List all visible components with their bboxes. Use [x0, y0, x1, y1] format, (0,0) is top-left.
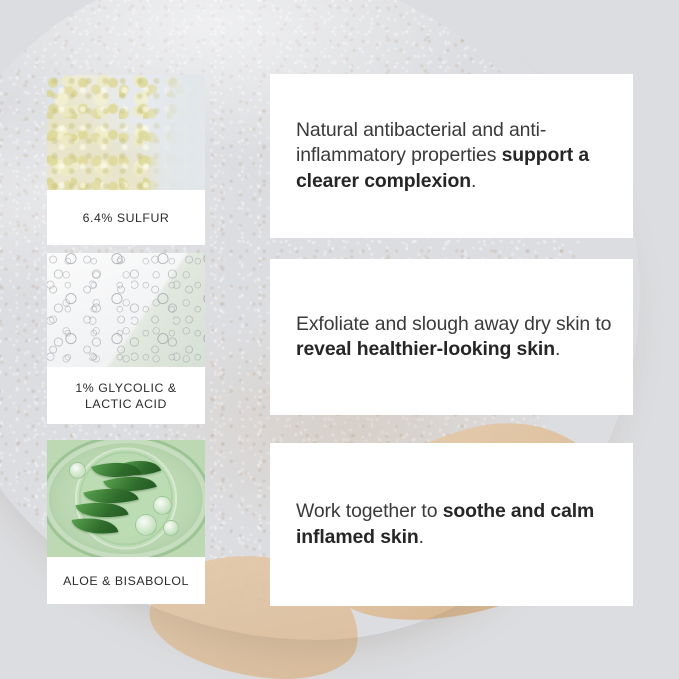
benefit-text-2: Exfoliate and slough away dry skin to re…	[270, 312, 622, 363]
benefit-plain-3: Work together to	[296, 500, 443, 522]
ingredient-label-sulfur: 6.4% SULFUR	[47, 190, 205, 245]
aloe-slice-icon	[163, 520, 179, 536]
benefit-text-1: Natural antibacterial and anti-inflammat…	[270, 118, 622, 195]
benefit-plain-2: Exfoliate and slough away dry skin to	[296, 313, 611, 335]
benefit-bold-2: reveal healthier-looking skin	[296, 338, 555, 360]
powder-backdrop-fade	[151, 75, 205, 190]
benefit-panel-1: Natural antibacterial and anti-inflammat…	[270, 74, 633, 238]
petri-dish	[47, 440, 205, 557]
benefit-panel-2: Exfoliate and slough away dry skin to re…	[270, 259, 633, 415]
gel-droplets-photo	[47, 253, 205, 367]
aloe-slice-icon	[153, 496, 172, 515]
ingredient-label-text: 6.4% SULFUR	[83, 210, 170, 226]
gel-bubbles-texture	[47, 253, 205, 367]
ingredient-label-line-1: 1% GLYCOLIC &	[75, 380, 176, 396]
benefit-text-3: Work together to soothe and calm inflame…	[270, 499, 622, 550]
benefit-plain-3b: .	[419, 526, 424, 548]
ingredient-label-line-2: LACTIC ACID	[85, 396, 167, 412]
ingredient-label-glycolic-lactic-acid: 1% GLYCOLIC & LACTIC ACID	[47, 367, 205, 424]
benefit-plain-1b: .	[471, 170, 476, 192]
ingredient-card-glycolic-lactic-acid[interactable]: 1% GLYCOLIC & LACTIC ACID	[47, 253, 205, 424]
ingredient-card-sulfur[interactable]: 6.4% SULFUR	[47, 75, 205, 245]
aloe-slice-icon	[135, 514, 157, 536]
product-ingredient-infographic: 6.4% SULFUR 1% GLYCOLIC & LACTIC ACID	[0, 0, 679, 679]
benefit-panel-3: Work together to soothe and calm inflame…	[270, 443, 633, 606]
sulfur-powder-photo	[47, 75, 205, 190]
ingredient-card-aloe-bisabolol[interactable]: ALOE & BISABOLOL	[47, 440, 205, 604]
aloe-petri-dish-photo	[47, 440, 205, 557]
benefit-plain-2b: .	[555, 338, 560, 360]
aloe-slice-icon	[69, 462, 86, 479]
ingredient-label-aloe-bisabolol: ALOE & BISABOLOL	[47, 557, 205, 604]
ingredient-label-text: ALOE & BISABOLOL	[63, 573, 189, 589]
